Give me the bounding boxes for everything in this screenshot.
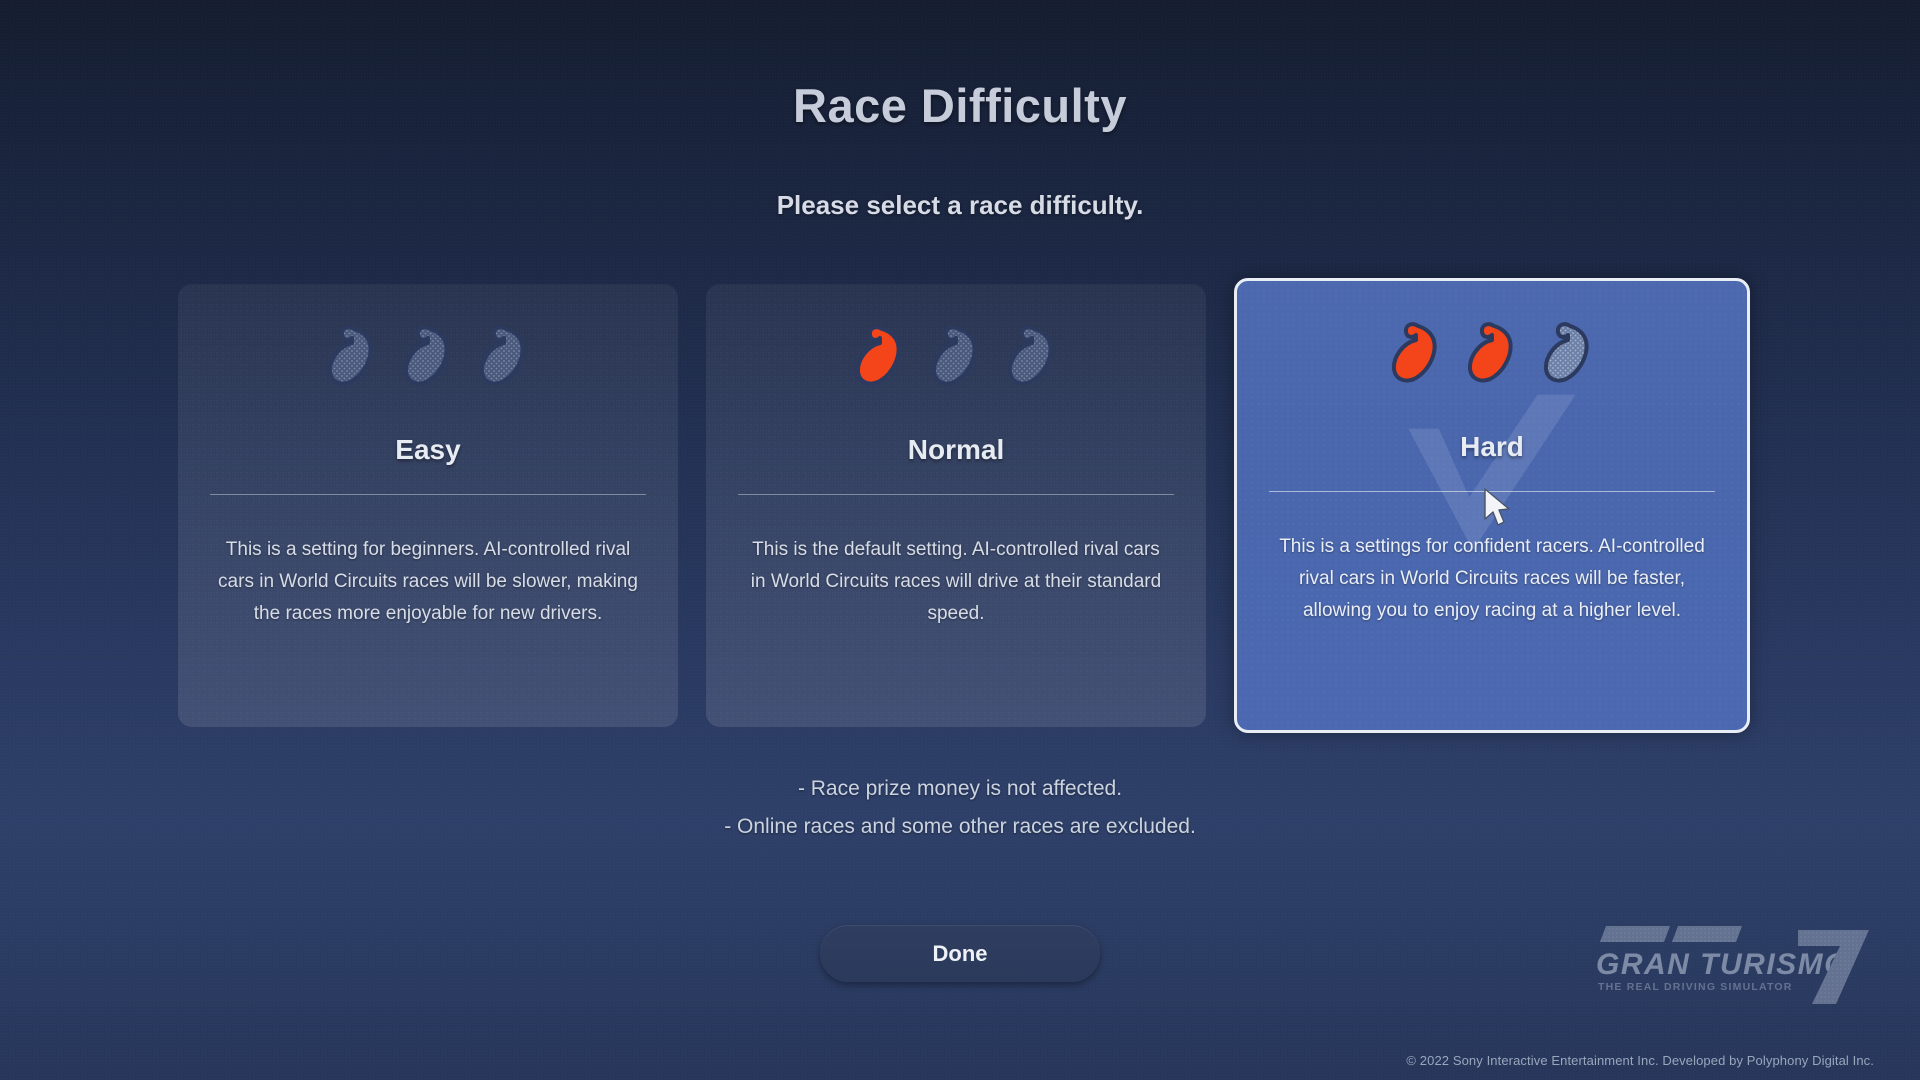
difficulty-card-easy[interactable]: Easy This is a setting for beginners. AI…	[178, 284, 678, 727]
chili-pepper-icon	[1001, 320, 1063, 388]
chili-pepper-icon	[473, 320, 535, 388]
chili-pepper-icon	[1537, 317, 1599, 385]
card-title-normal: Normal	[706, 434, 1206, 466]
done-button[interactable]: Done	[820, 925, 1100, 982]
svg-text:GRAN TURISMO: GRAN TURISMO	[1596, 948, 1849, 981]
card-divider	[1269, 491, 1715, 492]
svg-text:THE REAL DRIVING SIMULATOR: THE REAL DRIVING SIMULATOR	[1598, 981, 1793, 993]
note-item: - Race prize money is not affected.	[0, 770, 1920, 808]
card-description-normal: This is the default setting. AI-controll…	[744, 534, 1168, 630]
page-title: Race Difficulty	[0, 78, 1920, 133]
card-divider	[738, 494, 1174, 495]
chili-pepper-icon	[397, 320, 459, 388]
chili-pepper-icon	[925, 320, 987, 388]
difficulty-card-hard[interactable]: Hard This is a settings for confident ra…	[1234, 278, 1750, 733]
chili-pepper-icon-lit	[1461, 317, 1523, 385]
chili-pepper-icon-lit	[1385, 317, 1447, 385]
note-item: - Online races and some other races are …	[0, 808, 1920, 846]
race-difficulty-screen: Race Difficulty Please select a race dif…	[0, 0, 1920, 1080]
pepper-rating-normal	[706, 320, 1206, 388]
card-description-hard: This is a settings for confident racers.…	[1275, 531, 1709, 627]
chili-pepper-icon	[321, 320, 383, 388]
gran-turismo-logo: GRAN TURISMO THE REAL DRIVING SIMULATOR	[1584, 924, 1874, 1012]
card-description-easy: This is a setting for beginners. AI-cont…	[216, 534, 640, 630]
copyright-text: © 2022 Sony Interactive Entertainment In…	[1406, 1053, 1874, 1068]
difficulty-card-normal[interactable]: Normal This is the default setting. AI-c…	[706, 284, 1206, 727]
page-subtitle: Please select a race difficulty.	[0, 190, 1920, 221]
card-title-easy: Easy	[178, 434, 678, 466]
chili-pepper-icon-lit	[849, 320, 911, 388]
pepper-rating-hard	[1237, 317, 1747, 385]
pepper-rating-easy	[178, 320, 678, 388]
card-divider	[210, 494, 646, 495]
difficulty-card-list: Easy This is a setting for beginners. AI…	[178, 284, 1750, 734]
card-title-hard: Hard	[1237, 431, 1747, 463]
notes-list: - Race prize money is not affected. - On…	[0, 770, 1920, 846]
